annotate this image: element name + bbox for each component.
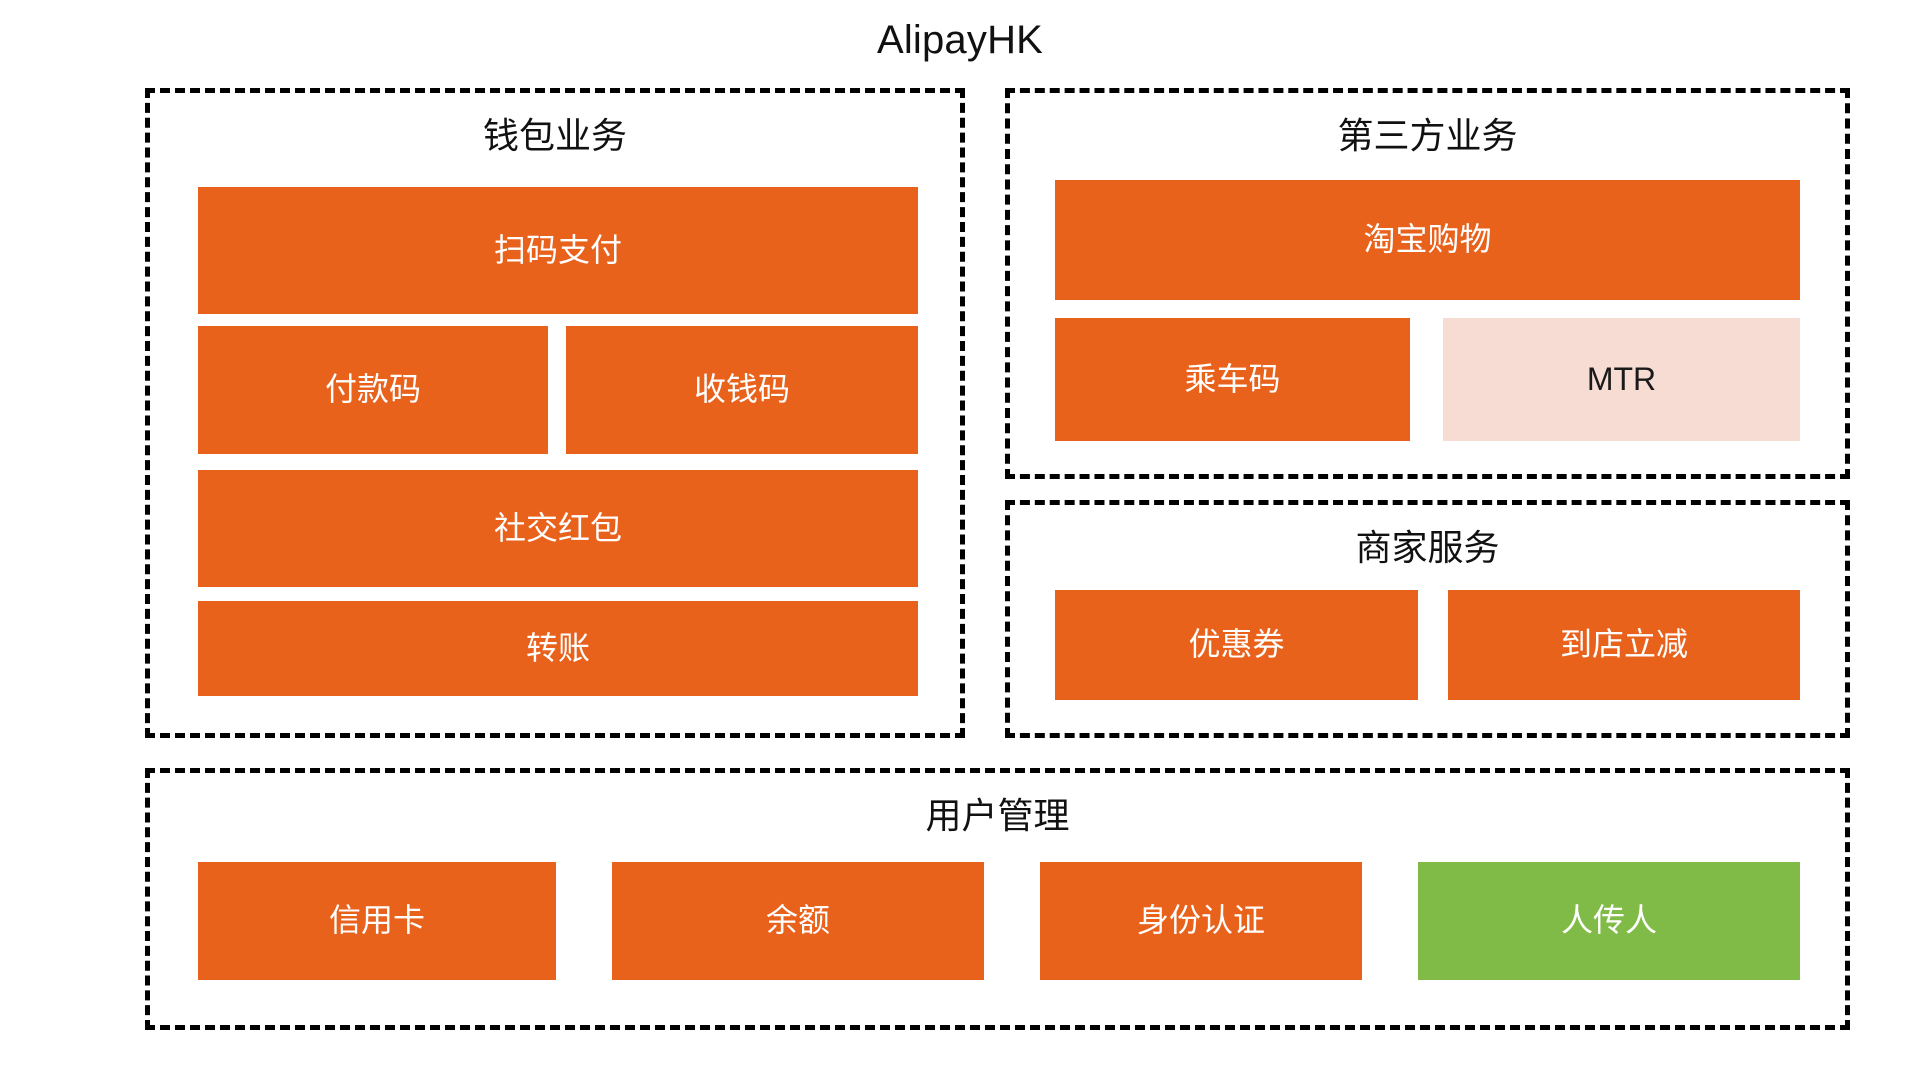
box-identity-verification[interactable]: 身份认证 <box>1040 862 1362 980</box>
box-person-to-person[interactable]: 人传人 <box>1418 862 1800 980</box>
box-label: 社交红包 <box>494 511 622 546</box>
box-label: 到店立减 <box>1560 627 1688 662</box>
box-mtr[interactable]: MTR <box>1443 318 1800 441</box>
box-transfer[interactable]: 转账 <box>198 601 918 696</box>
panel-title-user-management: 用户管理 <box>150 795 1845 836</box>
box-label: 转账 <box>526 631 590 666</box>
box-label: 优惠券 <box>1188 627 1284 662</box>
box-label: 付款码 <box>325 372 421 407</box>
box-transit-code[interactable]: 乘车码 <box>1055 318 1410 441</box>
box-receive-code[interactable]: 收钱码 <box>566 326 918 454</box>
box-coupon[interactable]: 优惠券 <box>1055 590 1418 700</box>
box-in-store-discount[interactable]: 到店立减 <box>1448 590 1800 700</box>
box-taobao-shopping[interactable]: 淘宝购物 <box>1055 180 1800 300</box>
box-payment-code[interactable]: 付款码 <box>198 326 548 454</box>
panel-title-third-party-business: 第三方业务 <box>1010 115 1845 156</box>
panel-title-merchant-services: 商家服务 <box>1010 527 1845 568</box>
box-balance[interactable]: 余额 <box>612 862 984 980</box>
box-label: 人传人 <box>1561 903 1657 938</box>
box-label: MTR <box>1587 362 1656 397</box>
page-title: AlipayHK <box>0 18 1920 63</box>
box-label: 扫码支付 <box>494 233 622 268</box>
box-label: 信用卡 <box>329 903 425 938</box>
box-label: 淘宝购物 <box>1363 222 1491 257</box>
box-social-red-packet[interactable]: 社交红包 <box>198 470 918 587</box>
diagram-canvas: AlipayHK 钱包业务 扫码支付 付款码 收钱码 社交红包 转账 第三方业务… <box>0 0 1920 1080</box>
box-credit-card[interactable]: 信用卡 <box>198 862 556 980</box>
box-label: 身份认证 <box>1137 903 1265 938</box>
box-scan-pay[interactable]: 扫码支付 <box>198 187 918 314</box>
panel-title-wallet-business: 钱包业务 <box>150 115 960 156</box>
box-label: 乘车码 <box>1184 362 1280 397</box>
box-label: 收钱码 <box>694 372 790 407</box>
box-label: 余额 <box>766 903 830 938</box>
